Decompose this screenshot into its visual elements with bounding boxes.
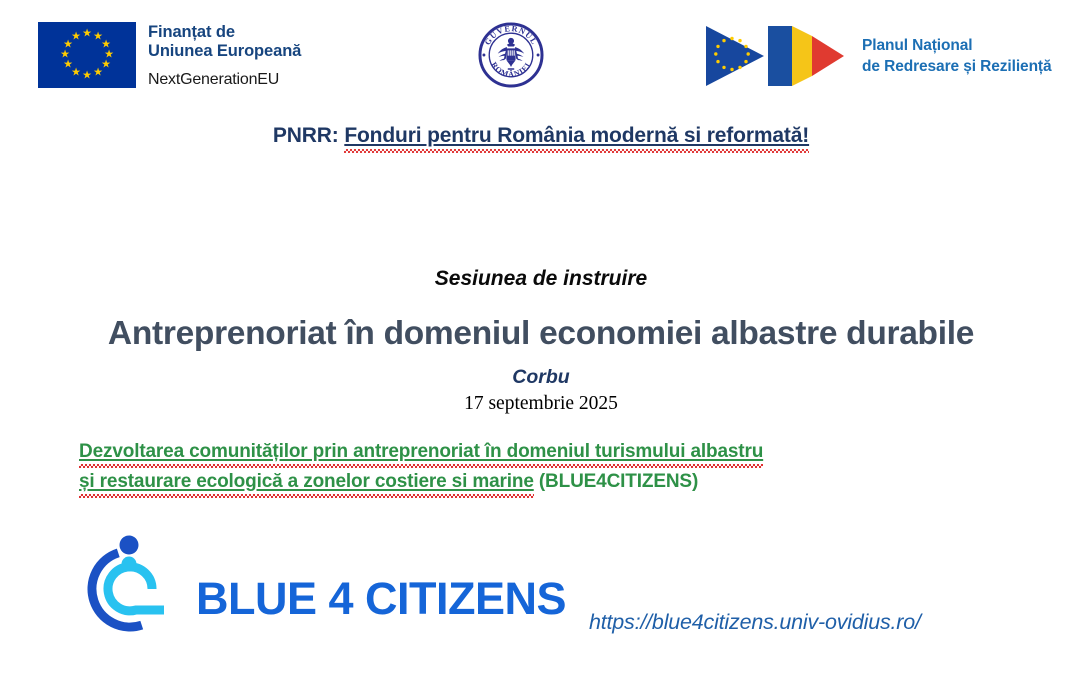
blue4citizens-wordmark: BLUE 4 CITIZENS [196,546,566,621]
eu-funding-logo: Finanțat de Uniunea Europeană NextGenera… [38,22,301,89]
pnrr-tagline-prefix: PNRR: [273,124,344,147]
guvernul-romaniei-seal-icon: GUVERNUL ROMÂNIEI [478,22,544,88]
project-title-line1-text: Dezvoltarea comunităților prin antrepren… [79,441,763,462]
pnrr-tagline-text: Fonduri pentru România modernă si reform… [344,124,809,147]
pnrr-logo: Planul Național de Redresare și Rezilien… [702,24,1052,88]
eu-logo-line1: Finanțat de [148,23,301,42]
eu-logo-line3: NextGenerationEU [148,70,301,89]
project-website-url[interactable]: https://blue4citizens.univ-ovidius.ro/ [589,610,921,635]
pnrr-logo-text: Planul Național de Redresare și Rezilien… [862,35,1052,77]
blue4citizens-mark-icon [78,531,182,635]
pnrr-logo-line2: de Redresare și Reziliență [862,56,1052,77]
session-date: 17 septembrie 2025 [0,393,1082,415]
pnrr-logo-line1: Planul Național [862,35,1052,56]
blue4citizens-logo: BLUE 4 CITIZENS [78,531,566,635]
page-title: Antreprenoriat în domeniul economiei alb… [0,315,1082,353]
project-acronym: (BLUE4CITIZENS) [534,471,698,492]
project-title-line1: Dezvoltarea comunităților prin antrepren… [79,437,979,467]
eu-flag-icon [38,22,136,88]
header-logo-strip: Finanțat de Uniunea Europeană NextGenera… [0,0,1082,112]
project-title: Dezvoltarea comunităților prin antrepren… [79,437,979,497]
session-location: Corbu [0,366,1082,389]
project-title-line2: și restaurare ecologică a zonelor costie… [79,467,979,497]
pnrr-arrows-icon [702,24,848,88]
eu-logo-text: Finanțat de Uniunea Europeană NextGenera… [148,22,301,89]
eu-logo-line2: Uniunea Europeană [148,42,301,61]
session-label: Sesiunea de instruire [0,267,1082,291]
pnrr-tagline: PNRR: Fonduri pentru România modernă si … [0,124,1082,148]
project-title-line2-text: și restaurare ecologică a zonelor costie… [79,471,534,492]
